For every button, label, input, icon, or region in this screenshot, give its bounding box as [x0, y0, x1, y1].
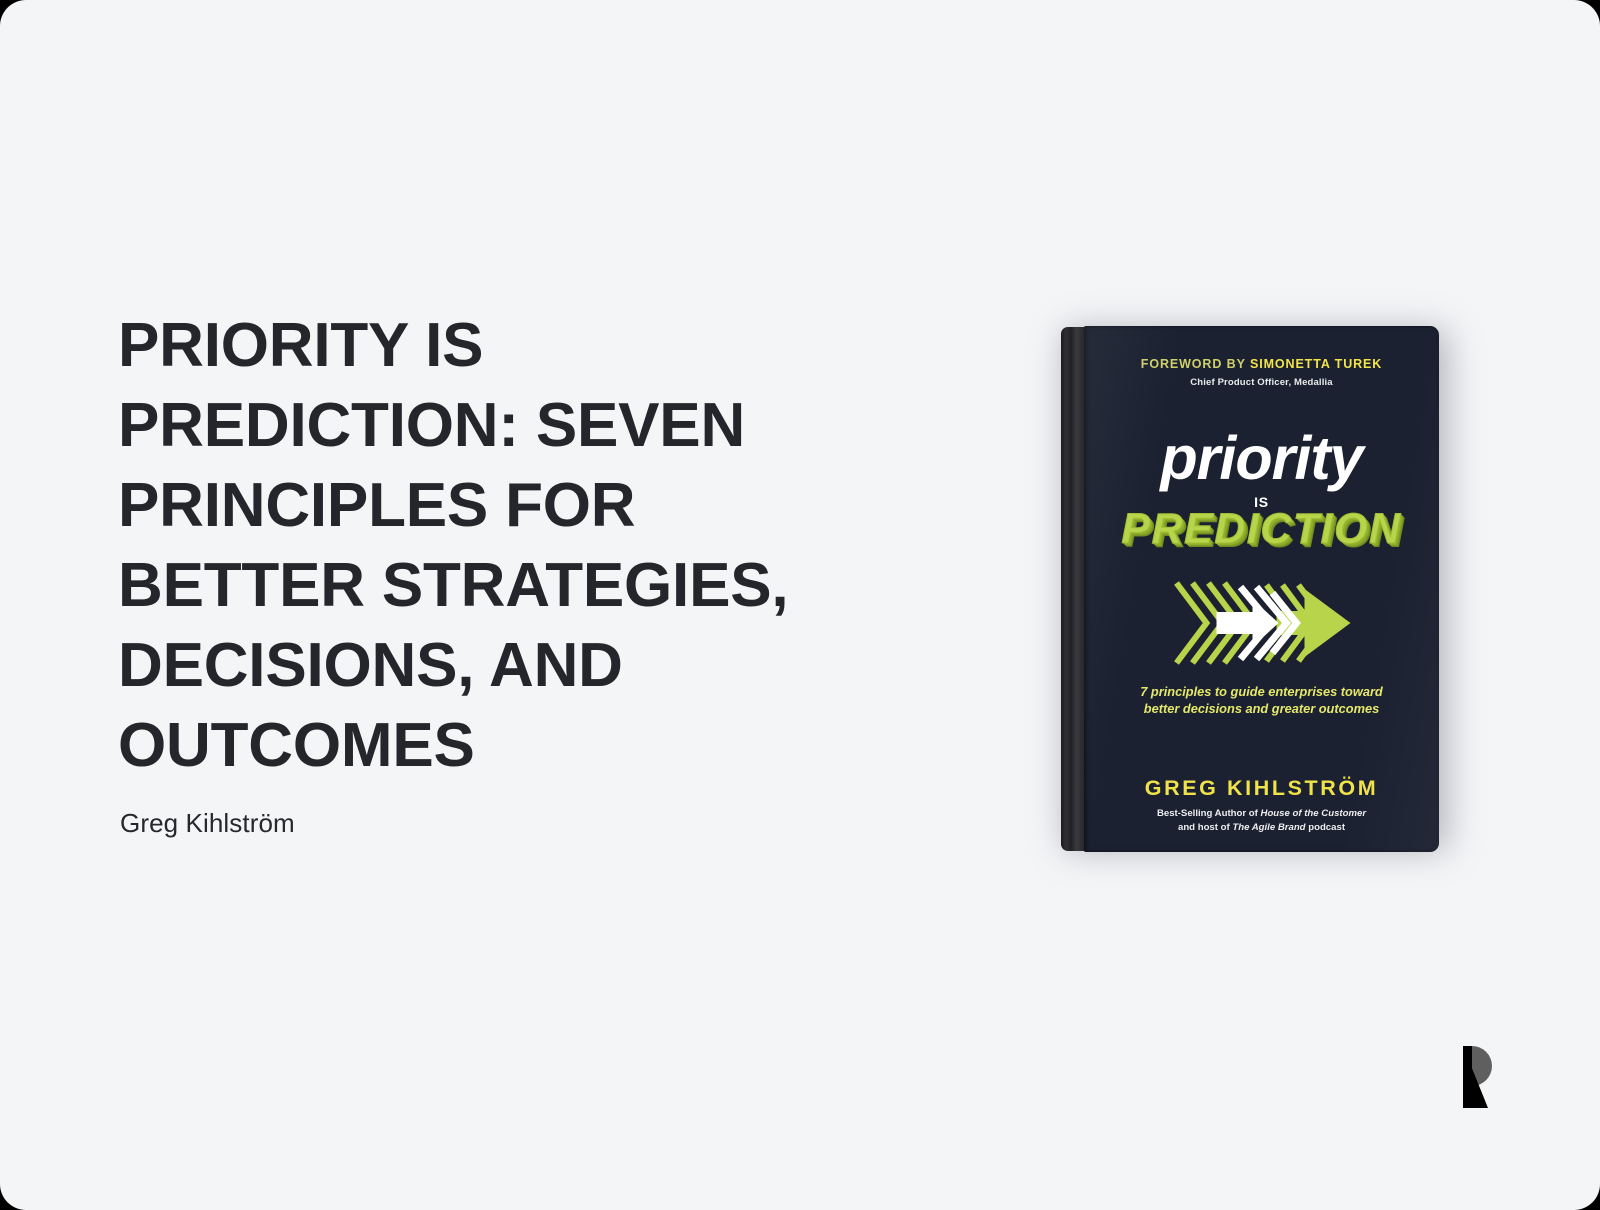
cover-tagline-line-1: 7 principles to guide enterprises toward [1140, 684, 1383, 699]
cover-credit-podcast-title: The Agile Brand [1232, 822, 1305, 833]
cover-tagline: 7 principles to guide enterprises toward… [1084, 684, 1439, 718]
author-byline: Greg Kihlström [120, 808, 295, 839]
book-cover-mockup: FOREWORD BY SIMONETTA TUREK Chief Produc… [1040, 315, 1450, 860]
cover-author-name: GREG KIHLSTRÖM [1084, 776, 1439, 801]
cover-credit-prefix-1: Best-Selling Author of [1157, 808, 1261, 819]
book-front-cover: FOREWORD BY SIMONETTA TUREK Chief Produc… [1084, 326, 1439, 852]
page-title: PRIORITY IS PREDICTION: SEVEN PRINCIPLES… [118, 306, 878, 786]
chevron-arrow-icon [1154, 571, 1369, 676]
cover-foreword-prefix: FOREWORD BY [1141, 357, 1250, 371]
cover-author-credits: Best-Selling Author of House of the Cust… [1084, 807, 1439, 834]
cover-tagline-line-2: better decisions and greater outcomes [1144, 701, 1379, 716]
page-canvas: PRIORITY IS PREDICTION: SEVEN PRINCIPLES… [0, 0, 1600, 1210]
cover-credit-suffix-2: podcast [1306, 822, 1345, 833]
cover-credit-book-title: House of the Customer [1261, 808, 1367, 819]
cover-title-priority: priority [1084, 428, 1439, 489]
cover-foreword-line: FOREWORD BY SIMONETTA TUREK [1084, 357, 1439, 371]
cover-foreword-title: Chief Product Officer, Medallia [1084, 377, 1439, 388]
cover-title-prediction: PREDICTION [1084, 508, 1439, 551]
cover-credit-prefix-2: and host of [1178, 822, 1232, 833]
brand-r-logo-icon [1450, 1046, 1492, 1108]
cover-foreword-name: SIMONETTA TUREK [1250, 357, 1382, 371]
